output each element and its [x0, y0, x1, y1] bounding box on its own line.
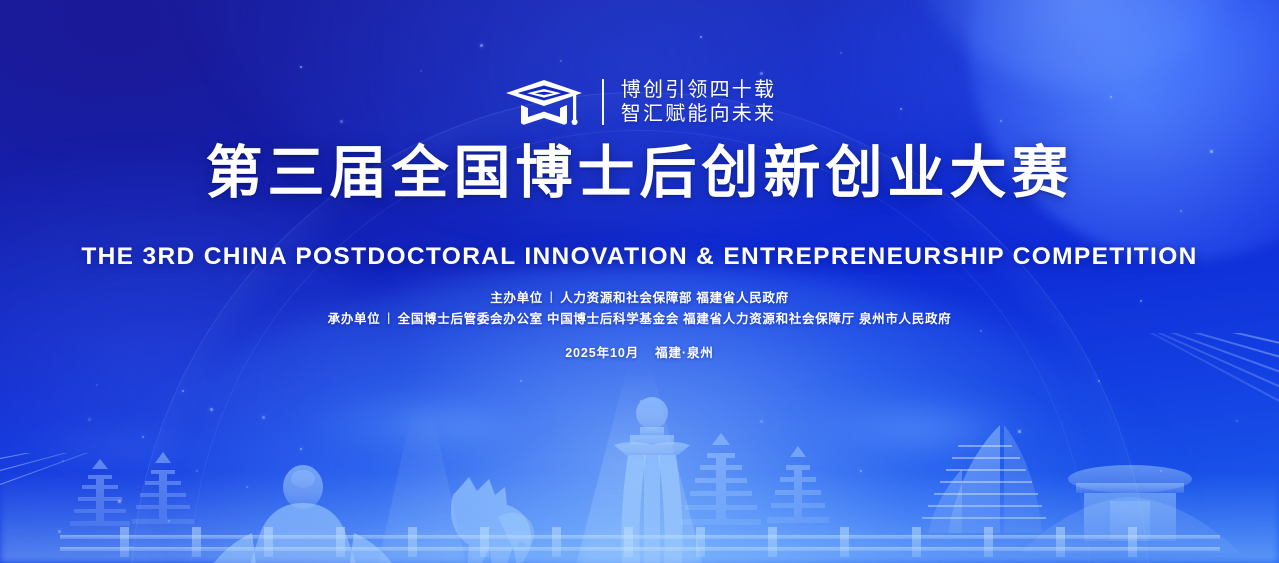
event-date-location: 2025年10月福建·泉州 — [0, 344, 1279, 362]
event-poster: 博创引领四十载 智汇赋能向未来 第三届全国博士后创新创业大赛 THE 3RD C… — [0, 0, 1279, 563]
organizer-separator: 丨 — [380, 312, 397, 326]
organizer-line: 承办单位丨全国博士后管委会办公室 中国博士后科学基金会 福建省人力资源和社会保障… — [0, 309, 1279, 330]
organizer-role: 承办单位 — [328, 312, 381, 326]
emblem-slogan-line-1: 博创引领四十载 — [621, 78, 776, 102]
emblem-slogan: 博创引领四十载 智汇赋能向未来 — [621, 78, 776, 126]
left-small-pagodas — [70, 452, 194, 526]
event-date: 2025年10月 — [565, 346, 639, 360]
organizer-names: 人力资源和社会保障部 福建省人民政府 — [560, 291, 789, 305]
emblem-divider — [602, 79, 604, 125]
page-title: 第三届全国博士后创新创业大赛 — [0, 142, 1279, 204]
event-location: 福建·泉州 — [655, 346, 714, 360]
sail-tower — [922, 425, 1046, 533]
organizers-block: 主办单位丨人力资源和社会保障部 福建省人民政府 承办单位丨全国博士后管委会办公室… — [0, 288, 1279, 330]
star-dot — [1098, 380, 1100, 382]
emblem-slogan-line-2: 智汇赋能向未来 — [621, 102, 776, 126]
organizer-line: 主办单位丨人力资源和社会保障部 福建省人民政府 — [0, 288, 1279, 309]
kaiyuan-twin-pagoda — [681, 433, 829, 525]
poster-content: 博创引领四十载 智汇赋能向未来 第三届全国博士后创新创业大赛 THE 3RD C… — [0, 0, 1279, 362]
graduation-cap-emblem-icon — [503, 78, 585, 126]
organizer-names: 全国博士后管委会办公室 中国博士后科学基金会 福建省人力资源和社会保障厅 泉州市… — [398, 312, 952, 326]
star-dot — [520, 380, 522, 382]
organizer-separator: 丨 — [543, 291, 560, 305]
emblem-row: 博创引领四十载 智汇赋能向未来 — [0, 0, 1279, 126]
organizer-role: 主办单位 — [490, 291, 543, 305]
page-subtitle-english: THE 3RD CHINA POSTDOCTORAL INNOVATION & … — [0, 242, 1279, 272]
city-skyline-silhouette — [0, 383, 1279, 563]
